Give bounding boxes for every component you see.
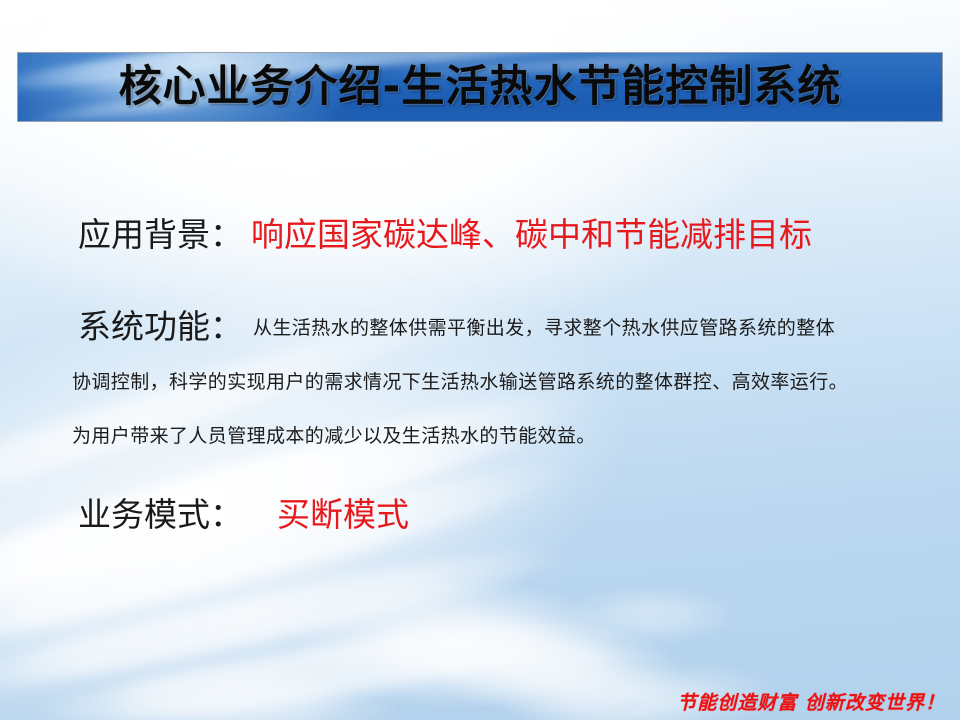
row-function-line-2: 协调控制，科学的实现用户的需求情况下生活热水输送管路系统的整体群控、高效率运行。 (72, 367, 848, 394)
value-business-model: 买断模式 (277, 495, 409, 534)
label-business-model: 业务模式： (78, 495, 243, 534)
function-paragraph-line-1: 从生活热水的整体供需平衡出发，寻求整个热水供应管路系统的整体 (253, 317, 835, 339)
slide-body: 应用背景：响应国家碳达峰、碳中和节能减排目标 系统功能：从生活热水的整体供需平衡… (0, 0, 960, 720)
footer-slogan: 节能创造财富 创新改变世界！ (677, 688, 945, 715)
value-application-background: 响应国家碳达峰、碳中和节能减排目标 (251, 215, 812, 254)
function-paragraph-line-3: 为用户带来了人员管理成本的减少以及生活热水的节能效益。 (72, 425, 596, 447)
function-paragraph-line-2: 协调控制，科学的实现用户的需求情况下生活热水输送管路系统的整体群控、高效率运行。 (72, 371, 848, 393)
row-system-function: 系统功能：从生活热水的整体供需平衡出发，寻求整个热水供应管路系统的整体 (78, 300, 835, 348)
slide-canvas: 核心业务介绍-生活热水节能控制系统 应用背景：响应国家碳达峰、碳中和节能减排目标… (0, 0, 960, 720)
row-application-background: 应用背景：响应国家碳达峰、碳中和节能减排目标 (78, 208, 812, 256)
label-application-background: 应用背景： (78, 215, 243, 254)
row-function-line-3: 为用户带来了人员管理成本的减少以及生活热水的节能效益。 (72, 421, 596, 448)
row-business-model: 业务模式：买断模式 (78, 488, 409, 536)
label-system-function: 系统功能： (78, 307, 243, 346)
